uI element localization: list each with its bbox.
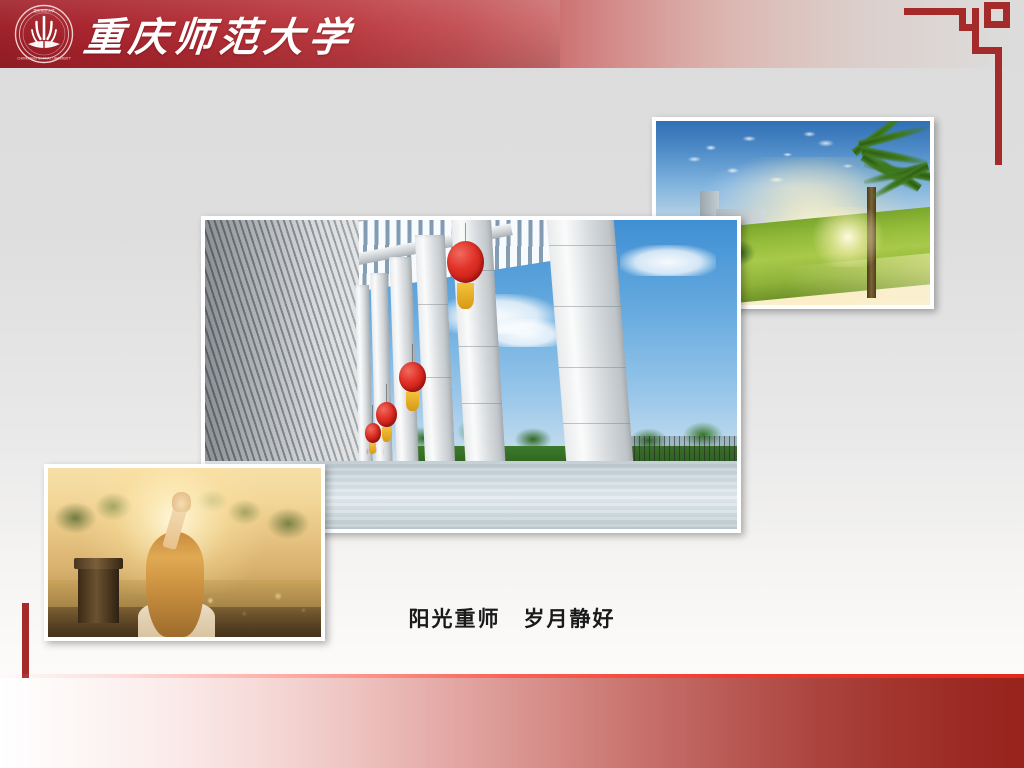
university-name-title: 重庆师范大学 <box>81 6 357 62</box>
footer-band <box>0 678 1024 768</box>
svg-text:CHONGQING NORMAL UNIVERSITY: CHONGQING NORMAL UNIVERSITY <box>17 57 71 61</box>
photo-red-lantern <box>399 344 426 393</box>
photo-person-hand <box>172 492 191 512</box>
photo-sun-burst <box>808 207 888 267</box>
svg-text:重庆师范大学: 重庆师范大学 <box>33 8 55 13</box>
slide-caption: 阳光重师 岁月静好 <box>0 603 1024 633</box>
photo-red-lantern <box>365 405 381 436</box>
presentation-slide: 重庆师范大学 CHONGQING NORMAL UNIVERSITY 重庆师范大… <box>0 0 1024 768</box>
photo-red-lantern <box>447 223 484 291</box>
photo-cloud <box>620 245 716 276</box>
university-seal-icon: 重庆师范大学 CHONGQING NORMAL UNIVERSITY <box>14 4 74 64</box>
photo-stone-post-cap <box>74 558 123 570</box>
photo-wall-shading <box>205 220 359 486</box>
